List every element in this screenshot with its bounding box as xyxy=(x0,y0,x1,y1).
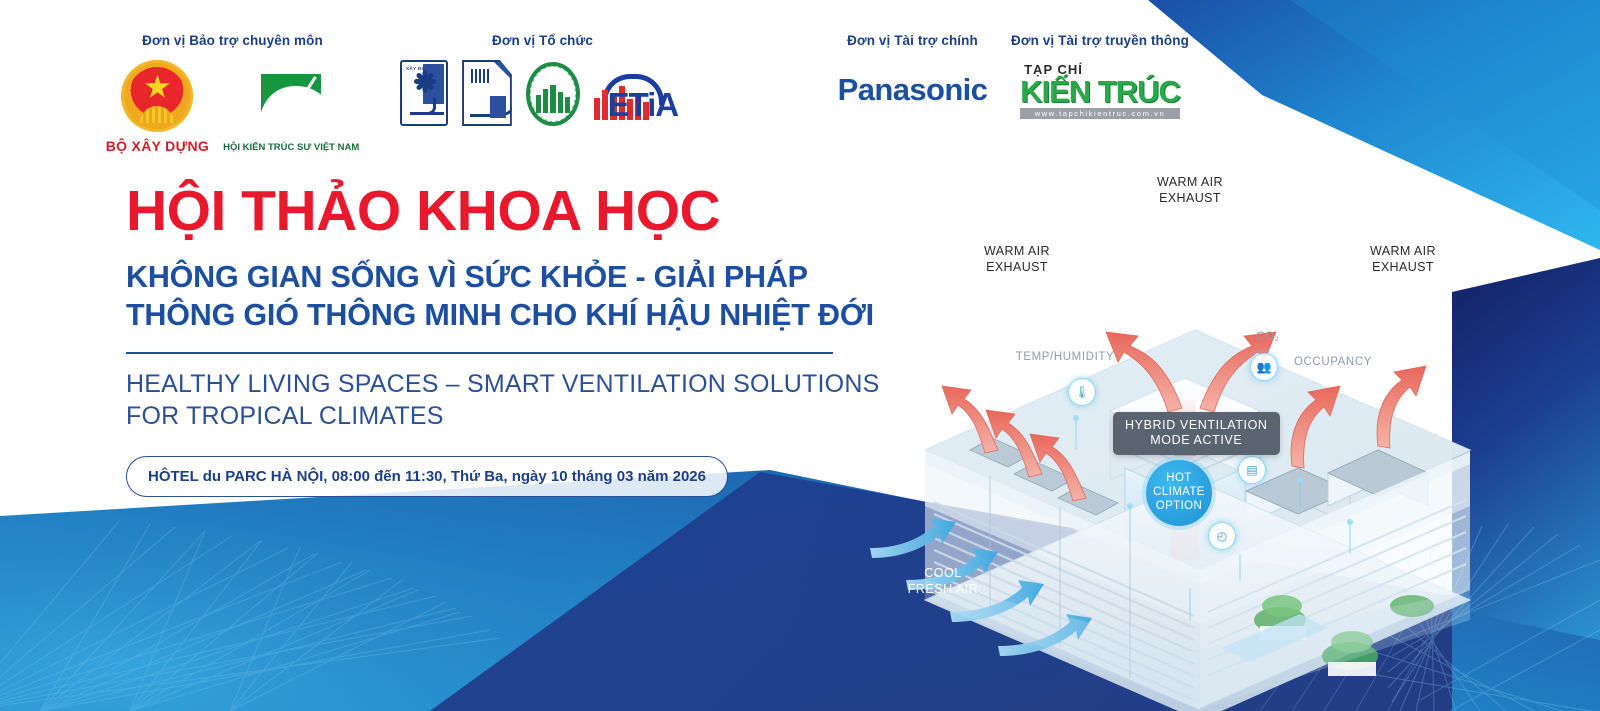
label-warm-air-exhaust-right: WARM AIR EXHAUST xyxy=(1338,244,1468,275)
sponsor-group-to-chuc: Đơn vị Tổ chức XÂY DỰNG xyxy=(400,33,685,126)
institute-corner-icon xyxy=(494,62,510,78)
subtitle-line-2: THÔNG GIÓ THÔNG MINH CHO KHÍ HẬU NHIỆT Đ… xyxy=(126,296,916,334)
sponsor-group-tai-tro: Đơn vị Tài trợ chính Panasonic xyxy=(820,33,1005,108)
subtitle-line-1: KHÔNG GIAN SỐNG VÌ SỨC KHỎE - GIẢI PHÁP xyxy=(126,258,916,296)
english-title-line-2: FOR TROPICAL CLIMATES xyxy=(126,400,916,432)
green-city-circle-logo xyxy=(526,62,580,126)
tckt-website: www.tapchikientruc.com.vn xyxy=(1020,108,1180,119)
bo-xay-dung-logo: BỘ XÂY DỰNG xyxy=(106,60,209,154)
sponsor-logo-row: TẠP CHÍ KIẾN TRÚC www.tapchikientruc.com… xyxy=(1010,62,1190,119)
nuce-hook-shape xyxy=(421,98,436,115)
label-co2: CO₂ xyxy=(1248,330,1288,344)
gauge-icon: ◴ xyxy=(1208,522,1236,550)
institute-block-shape xyxy=(490,96,506,118)
sponsor-header: Đơn vị Bảo trợ chuyên môn BỘ XÂY DỰNG HỘ… xyxy=(0,0,1220,155)
page-title: HỘI THẢO KHOA HỌC xyxy=(126,182,916,240)
vaa-square-icon xyxy=(261,74,321,136)
sponsor-group-title: Đơn vị Tài trợ chính xyxy=(820,33,1005,48)
building-ventilation-illustration: WARM AIR EXHAUST WARM AIR EXHAUST WARM A… xyxy=(830,150,1600,711)
label-cool-fresh-air: COOL FRESH AIR xyxy=(888,566,998,597)
headline-block: HỘI THẢO KHOA HỌC KHÔNG GIAN SỐNG VÌ SỨC… xyxy=(126,182,916,497)
sponsor-logo-row: Panasonic xyxy=(820,72,1005,108)
institute-glyph-icon xyxy=(471,69,489,83)
sponsor-group-title: Đơn vị Bảo trợ chuyên môn xyxy=(110,33,355,48)
cetia-wordmark: ETiA xyxy=(608,86,679,124)
sponsor-logo-row: BỘ XÂY DỰNG HỘI KIẾN TRÚC SƯ VIỆT NAM xyxy=(110,60,355,154)
sponsor-group-title: Đơn vị Tổ chức xyxy=(400,33,685,48)
panasonic-logo: Panasonic xyxy=(838,72,988,108)
label-warm-air-exhaust-center: WARM AIR EXHAUST xyxy=(1120,175,1260,206)
cetia-logo: ETiA xyxy=(594,72,685,126)
label-temp-humidity: TEMP/HUMIDITY xyxy=(1000,350,1130,364)
hoi-kien-truc-su-caption: HỘI KIẾN TRÚC SƯ VIỆT NAM xyxy=(223,142,359,154)
divider xyxy=(126,352,833,354)
green-city-skyline-icon xyxy=(536,85,570,113)
bo-xay-dung-caption: BỘ XÂY DỰNG xyxy=(106,138,209,154)
emblem-arc-icon xyxy=(140,106,174,123)
event-banner: Đơn vị Bảo trợ chuyên môn BỘ XÂY DỰNG HỘ… xyxy=(0,0,1600,711)
label-occupancy: OCCUPANCY xyxy=(1278,355,1388,369)
tap-chi-kien-truc-logo: TẠP CHÍ KIẾN TRÚC www.tapchikientruc.com… xyxy=(1020,62,1180,119)
nuce-flower-icon xyxy=(414,76,436,98)
thermometer-icon: 🌡 xyxy=(1068,378,1096,406)
institute-logo xyxy=(462,60,512,126)
hybrid-ventilation-badge: HYBRID VENTILATION MODE ACTIVE xyxy=(1113,412,1280,455)
tckt-line2: KIẾN TRÚC xyxy=(1020,77,1180,106)
vietnam-emblem-icon xyxy=(121,60,193,132)
sponsor-group-bao-tro: Đơn vị Bảo trợ chuyên môn BỘ XÂY DỰNG HỘ… xyxy=(110,33,355,154)
sponsor-group-truyen-thong: Đơn vị Tài trợ truyền thông TẠP CHÍ KIẾN… xyxy=(1010,33,1190,119)
dai-hoc-xay-dung-logo: XÂY DỰNG xyxy=(400,60,448,126)
panel-icon: ▤ xyxy=(1238,456,1266,484)
people-icon: 👥 xyxy=(1250,353,1278,381)
label-warm-air-exhaust-left: WARM AIR EXHAUST xyxy=(952,244,1082,275)
hoi-kien-truc-su-logo: HỘI KIẾN TRÚC SƯ VIỆT NAM xyxy=(223,74,359,154)
date-venue-badge: HÔTEL du PARC HÀ NỘI, 08:00 đến 11:30, T… xyxy=(126,456,728,497)
sponsor-logo-row: XÂY DỰNG xyxy=(400,60,685,126)
sponsor-group-title: Đơn vị Tài trợ truyền thông xyxy=(1010,33,1190,48)
star-icon xyxy=(144,74,170,100)
english-title-line-1: HEALTHY LIVING SPACES – SMART VENTILATIO… xyxy=(126,368,916,400)
hot-climate-option-badge: HOT CLIMATE OPTION xyxy=(1146,460,1212,526)
